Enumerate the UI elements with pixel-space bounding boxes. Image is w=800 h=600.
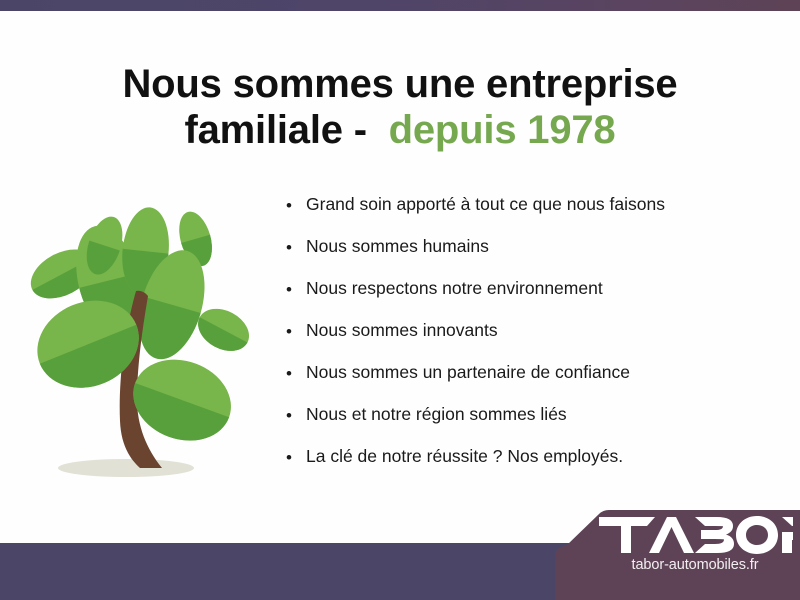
- tree-illustration-svg: [14, 196, 262, 488]
- page-title-line-1: Nous sommes une entreprise: [0, 61, 800, 107]
- list-item-label: La clé de notre réussite ? Nos employés.: [306, 444, 623, 469]
- bullet-list: • Grand soin apporté à tout ce que nous …: [286, 192, 786, 486]
- list-item-label: Nous sommes un partenaire de confiance: [306, 360, 630, 385]
- list-item: • Nous sommes innovants: [286, 318, 786, 360]
- list-item: • Nous sommes humains: [286, 234, 786, 276]
- bullet-marker-icon: •: [286, 234, 306, 260]
- bullet-marker-icon: •: [286, 192, 306, 218]
- bullet-marker-icon: •: [286, 360, 306, 386]
- page-title-line-2: familiale - depuis 1978: [0, 107, 800, 153]
- brand-logo[interactable]: tabor-automobiles.fr: [555, 510, 800, 600]
- list-item-label: Nous et notre région sommes liés: [306, 402, 567, 427]
- page-title-accent: depuis 1978: [389, 108, 616, 152]
- list-item-label: Nous sommes innovants: [306, 318, 498, 343]
- page-title: Nous sommes une entreprise familiale - d…: [0, 61, 800, 154]
- page-title-line-2-plain: familiale -: [185, 108, 367, 152]
- list-item: • Nous respectons notre environnement: [286, 276, 786, 318]
- slide-canvas: Nous sommes une entreprise familiale - d…: [0, 0, 800, 600]
- list-item: • Nous et notre région sommes liés: [286, 402, 786, 444]
- logo-url-label: tabor-automobiles.fr: [597, 557, 793, 573]
- list-item: • Grand soin apporté à tout ce que nous …: [286, 192, 786, 234]
- bullet-marker-icon: •: [286, 402, 306, 428]
- bullet-marker-icon: •: [286, 318, 306, 344]
- list-item: • Nous sommes un partenaire de confiance: [286, 360, 786, 402]
- tree-shadow: [58, 459, 194, 477]
- list-item: • La clé de notre réussite ? Nos employé…: [286, 444, 786, 486]
- list-item-label: Nous respectons notre environnement: [306, 276, 603, 301]
- logo-wordmark: [597, 513, 793, 555]
- tree-illustration: [14, 196, 262, 488]
- top-accent-bar: [0, 0, 800, 11]
- bullet-marker-icon: •: [286, 276, 306, 302]
- bullet-marker-icon: •: [286, 444, 306, 470]
- list-item-label: Grand soin apporté à tout ce que nous fa…: [306, 192, 665, 217]
- list-item-label: Nous sommes humains: [306, 234, 489, 259]
